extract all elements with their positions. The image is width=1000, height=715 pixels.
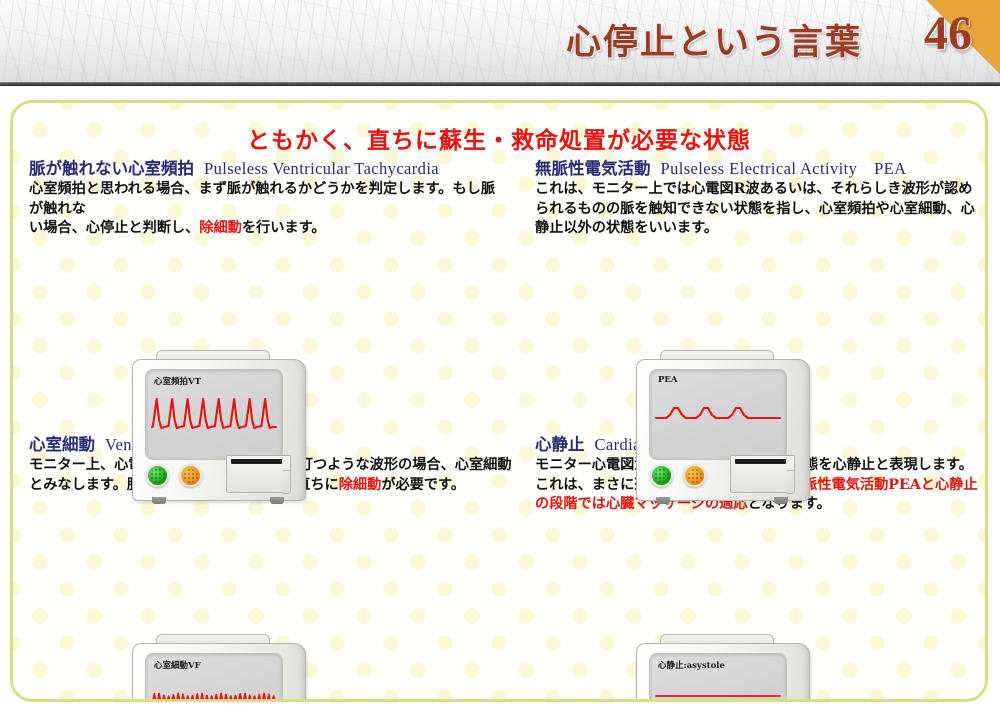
monitor-foot-left [656,497,670,504]
card-subtitle: ともかく、直ちに蘇生・救命処置が必要な状態 [13,121,985,155]
panel-body-line: い場合、心停止と判断し、除細動を行います。 [29,219,509,239]
monitor-device-vf: 心室細動VF [132,634,304,702]
body-text: 心室頻拍と思われる場合、まず脈が触れるかどうかを判定します。もし脈が触れな [29,181,495,217]
monitor-foot-right [270,497,284,504]
emphasis-text: 除細動 [339,477,382,493]
panel-heading-en: Pulseless Electrical Activity PEA [651,159,907,178]
body-text: これは、モニター上では心電図R波あるいは、それらしき波形が認め [535,181,972,197]
monitor-foot-right [774,497,788,504]
monitor-connector-green[interactable] [146,464,169,487]
monitor-screen: 心室頻拍VT [145,369,283,460]
page-number: 46 [924,6,972,61]
panel-body-line: これは、モニター上では心電図R波あるいは、それらしき波形が認め [535,180,987,200]
panel-heading-ja: 心室細動 [29,435,95,454]
monitor-screen: PEA [649,369,787,460]
body-text: が必要です。 [381,477,465,493]
emphasis-text: 無脈性電気活動PEAと心静止 [789,477,978,493]
monitor-device-asystole: 心静止:asystole [636,634,808,702]
panel-body-line: 静止以外の状態をいいます。 [535,219,987,239]
monitor-printer-slot [226,455,291,493]
emphasis-text: 除細動 [199,220,242,236]
panel-body-line: られるものの脈を触知できない状態を指し、心室頻拍や心室細動、心 [535,200,987,220]
panel-ventricular-tachycardia: 脈が触れない心室頻拍Pulseless Ventricular Tachycar… [29,155,509,239]
monitor-connector-orange[interactable] [179,464,202,487]
monitor-printer-slot [730,455,795,493]
monitor-connector-orange[interactable] [683,464,706,487]
panel-body: これは、モニター上では心電図R波あるいは、それらしき波形が認められるものの脈を触… [535,180,987,239]
body-text: られるものの脈を触知できない状態を指し、心室頻拍や心室細動、心 [535,201,975,217]
ecg-waveform-pea [650,370,786,459]
page-header: 心停止という言葉 46 [0,0,1000,86]
monitor-device-vt: 心室頻拍VT [132,350,304,508]
panel-heading-en: Pulseless Ventricular Tachycardia [194,159,439,178]
monitor-screen: 心室細動VF [145,653,283,702]
content-card: ともかく、直ちに蘇生・救命処置が必要な状態 脈が触れない心室頻拍Pulseles… [10,100,988,702]
panel-heading: 無脈性電気活動Pulseless Electrical Activity PEA [535,155,987,179]
panel-heading-ja: 心静止 [535,435,585,454]
ecg-waveform-asystole [650,654,786,702]
monitor-connector-green[interactable] [650,464,673,487]
panel-heading: 脈が触れない心室頻拍Pulseless Ventricular Tachycar… [29,155,509,179]
panel-heading-ja: 無脈性電気活動 [535,159,651,178]
monitor-device-pea: PEA [636,350,808,508]
monitor-foot-left [152,497,166,504]
body-text: 静止以外の状態をいいます。 [535,220,718,236]
body-text: を行います。 [242,220,326,236]
panel-body: 心室頻拍と思われる場合、まず脈が触れるかどうかを判定します。もし脈が触れない場合… [29,180,509,239]
panel-heading-ja: 脈が触れない心室頻拍 [29,159,194,178]
ecg-waveform-vf [146,654,282,702]
panel-pulseless-electrical-activity: 無脈性電気活動Pulseless Electrical Activity PEA… [535,155,987,239]
panel-body-line: 心室頻拍と思われる場合、まず脈が触れるかどうかを判定します。もし脈が触れな [29,180,509,219]
ecg-waveform-vt [146,370,282,459]
monitor-screen: 心静止:asystole [649,653,787,702]
page-title: 心停止という言葉 [566,14,862,65]
body-text: い場合、心停止と判断し、 [29,220,199,236]
